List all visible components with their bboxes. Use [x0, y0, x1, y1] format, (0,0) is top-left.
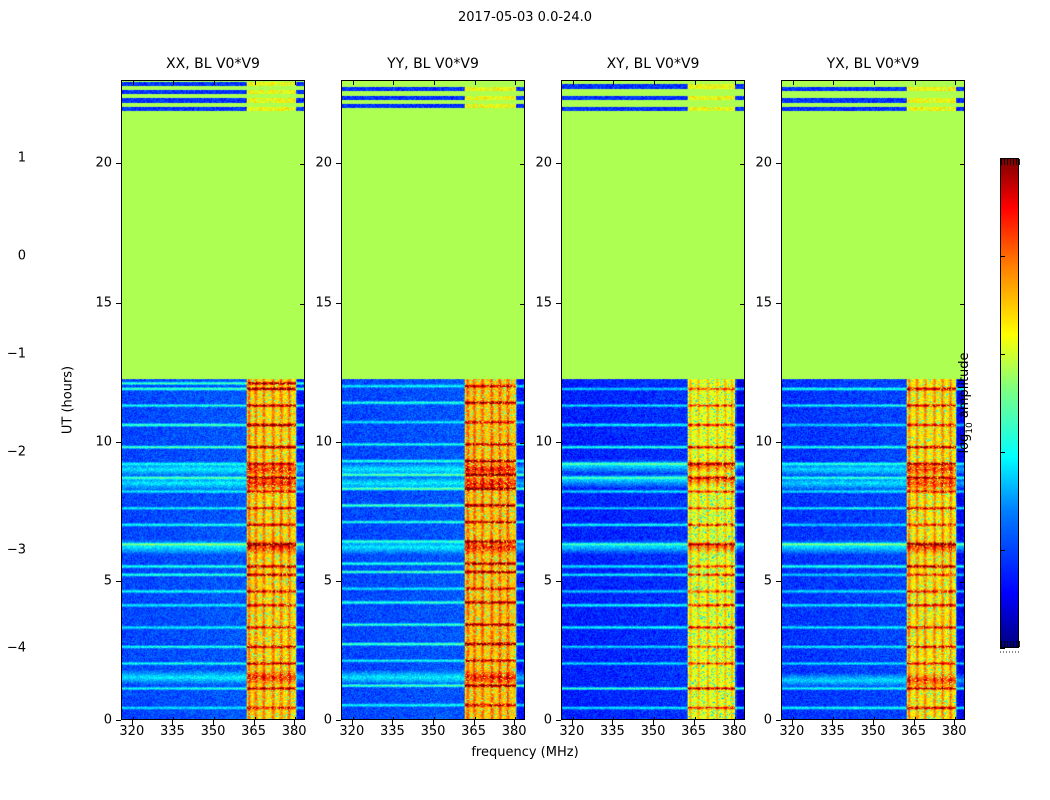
x-tick-inner: [515, 81, 516, 85]
x-tick-label: 320: [339, 724, 364, 739]
x-tick-label: 350: [641, 724, 666, 739]
colorbar-label-main: log: [957, 434, 972, 454]
y-tick: [336, 303, 341, 304]
y-axis-label: UT (hours): [61, 366, 76, 434]
y-tick-inner: [740, 304, 744, 305]
y-tick: [336, 442, 341, 443]
heatmap-image-yx: [782, 81, 964, 719]
y-tick-label: 0: [764, 713, 772, 728]
x-tick-label: 335: [160, 724, 185, 739]
x-tick-inner: [573, 717, 574, 720]
colorbar-label-sub: 10: [965, 422, 975, 433]
y-tick: [116, 163, 121, 164]
y-tick: [556, 720, 561, 721]
y-tick-inner: [740, 164, 744, 165]
y-tick-label: 15: [535, 295, 552, 310]
x-tick-inner: [393, 81, 394, 85]
y-tick-label: 5: [104, 573, 112, 588]
y-tick-inner: [740, 443, 744, 444]
x-tick-inner: [214, 81, 215, 85]
y-tick-label: 20: [95, 156, 112, 171]
y-tick-label: 5: [544, 573, 552, 588]
colorbar-tick: [1000, 354, 1005, 355]
y-tick-inner: [300, 164, 304, 165]
x-tick-label: 380: [502, 724, 527, 739]
x-tick-label: 350: [421, 724, 446, 739]
y-tick-inner: [740, 582, 744, 583]
x-tick-inner: [434, 81, 435, 85]
colorbar-label: log10 amplitude: [957, 352, 975, 453]
colorbar-tick-label: 0: [18, 249, 26, 264]
heatmap-axes-yy[interactable]: [341, 80, 525, 720]
colorbar-tick: [1000, 648, 1005, 649]
x-tick-inner: [793, 81, 794, 85]
x-tick-inner: [515, 717, 516, 720]
colorbar-label-tail: amplitude: [957, 352, 972, 422]
y-tick-inner: [520, 443, 524, 444]
x-tick-label: 350: [861, 724, 886, 739]
x-tick-inner: [874, 717, 875, 720]
colorbar-under-cap: [1001, 641, 1020, 647]
y-tick: [776, 442, 781, 443]
x-tick-label: 365: [901, 724, 926, 739]
y-tick-label: 20: [535, 156, 552, 171]
y-tick: [556, 163, 561, 164]
panel-yx: YX, BL V0*V932033535036538005101520: [781, 80, 965, 720]
y-tick: [116, 581, 121, 582]
colorbar-tick-label: −4: [7, 641, 26, 656]
y-tick-label: 10: [755, 434, 772, 449]
x-tick-inner: [255, 81, 256, 85]
y-tick: [336, 720, 341, 721]
x-axis-label: frequency (MHz): [0, 745, 1050, 760]
panel-xy: XY, BL V0*V932033535036538005101520: [561, 80, 745, 720]
y-tick-label: 0: [104, 713, 112, 728]
y-tick: [556, 581, 561, 582]
colorbar-tick-label: 1: [18, 151, 26, 166]
panel-yy: YY, BL V0*V932033535036538005101520: [341, 80, 525, 720]
figure-canvas: 2017-05-03 0.0-24.0 XX, BL V0*V932033535…: [0, 0, 1050, 800]
colorbar[interactable]: [1000, 158, 1019, 648]
y-tick-label: 20: [315, 156, 332, 171]
x-tick-inner: [654, 81, 655, 85]
x-tick-inner: [353, 81, 354, 85]
colorbar-tick: [1000, 550, 1005, 551]
x-tick-inner: [955, 81, 956, 85]
panel-title-xy: XY, BL V0*V9: [561, 56, 745, 72]
colorbar-tick: [1000, 256, 1005, 257]
colorbar-tick-label: −3: [7, 543, 26, 558]
y-tick-inner: [300, 582, 304, 583]
x-tick-inner: [915, 717, 916, 720]
x-tick-inner: [133, 81, 134, 85]
x-tick-label: 320: [779, 724, 804, 739]
x-tick-inner: [214, 717, 215, 720]
y-tick-label: 0: [544, 713, 552, 728]
x-tick-inner: [613, 81, 614, 85]
y-tick: [336, 163, 341, 164]
y-tick-label: 0: [324, 713, 332, 728]
x-tick-label: 350: [201, 724, 226, 739]
colorbar-tick-label: −2: [7, 445, 26, 460]
x-tick-label: 335: [380, 724, 405, 739]
x-tick-inner: [955, 717, 956, 720]
y-tick-label: 10: [315, 434, 332, 449]
x-tick-inner: [735, 717, 736, 720]
y-tick-label: 5: [324, 573, 332, 588]
y-tick: [336, 581, 341, 582]
x-tick-inner: [173, 717, 174, 720]
figure-suptitle: 2017-05-03 0.0-24.0: [0, 10, 1050, 25]
x-tick-inner: [475, 717, 476, 720]
x-tick-inner: [833, 717, 834, 720]
heatmap-axes-yx[interactable]: [781, 80, 965, 720]
x-tick-inner: [573, 81, 574, 85]
x-tick-inner: [915, 81, 916, 85]
y-tick-inner: [960, 304, 964, 305]
y-tick-inner: [520, 582, 524, 583]
y-tick: [116, 720, 121, 721]
heatmap-image-yy: [342, 81, 524, 719]
y-tick: [116, 442, 121, 443]
y-tick-inner: [960, 582, 964, 583]
panel-title-xx: XX, BL V0*V9: [121, 56, 305, 72]
x-tick-label: 365: [681, 724, 706, 739]
x-tick-inner: [295, 717, 296, 720]
y-tick-label: 5: [764, 573, 772, 588]
x-tick-inner: [475, 81, 476, 85]
y-tick-inner: [520, 164, 524, 165]
y-tick: [776, 303, 781, 304]
y-tick: [776, 581, 781, 582]
y-tick: [556, 442, 561, 443]
y-tick-inner: [300, 304, 304, 305]
heatmap-image-xy: [562, 81, 744, 719]
x-tick-label: 365: [461, 724, 486, 739]
x-tick-inner: [393, 717, 394, 720]
y-tick-label: 10: [535, 434, 552, 449]
x-tick-inner: [695, 717, 696, 720]
y-tick-label: 20: [755, 156, 772, 171]
y-tick-label: 10: [95, 434, 112, 449]
x-tick-label: 320: [559, 724, 584, 739]
y-tick: [776, 720, 781, 721]
x-tick-inner: [434, 717, 435, 720]
heatmap-axes-xy[interactable]: [561, 80, 745, 720]
x-tick-inner: [874, 81, 875, 85]
panel-title-yy: YY, BL V0*V9: [341, 56, 525, 72]
y-tick-inner: [520, 304, 524, 305]
x-tick-label: 335: [600, 724, 625, 739]
x-tick-label: 365: [241, 724, 266, 739]
panel-xx: XX, BL V0*V932033535036538005101520: [121, 80, 305, 720]
x-tick-inner: [833, 81, 834, 85]
colorbar-tick-label: −1: [7, 347, 26, 362]
x-tick-inner: [133, 717, 134, 720]
x-tick-label: 320: [119, 724, 144, 739]
colorbar-under-dots: [1000, 651, 1019, 653]
colorbar-over-cap: [1001, 159, 1020, 165]
x-tick-inner: [695, 81, 696, 85]
heatmap-image-xx: [122, 81, 304, 719]
panel-title-yx: YX, BL V0*V9: [781, 56, 965, 72]
y-tick-inner: [300, 443, 304, 444]
heatmap-axes-xx[interactable]: [121, 80, 305, 720]
colorbar-tick: [1000, 158, 1005, 159]
x-tick-inner: [295, 81, 296, 85]
x-tick-inner: [173, 81, 174, 85]
x-tick-label: 380: [942, 724, 967, 739]
x-tick-inner: [613, 717, 614, 720]
x-tick-label: 380: [282, 724, 307, 739]
x-tick-inner: [735, 81, 736, 85]
y-tick: [556, 303, 561, 304]
x-tick-label: 380: [722, 724, 747, 739]
x-tick-inner: [353, 717, 354, 720]
colorbar-tick: [1000, 452, 1005, 453]
y-tick-label: 15: [95, 295, 112, 310]
y-tick: [776, 163, 781, 164]
y-tick-inner: [960, 164, 964, 165]
y-tick: [116, 303, 121, 304]
x-tick-inner: [793, 717, 794, 720]
x-tick-inner: [654, 717, 655, 720]
x-tick-label: 335: [820, 724, 845, 739]
x-tick-inner: [255, 717, 256, 720]
y-tick-label: 15: [755, 295, 772, 310]
y-tick-label: 15: [315, 295, 332, 310]
